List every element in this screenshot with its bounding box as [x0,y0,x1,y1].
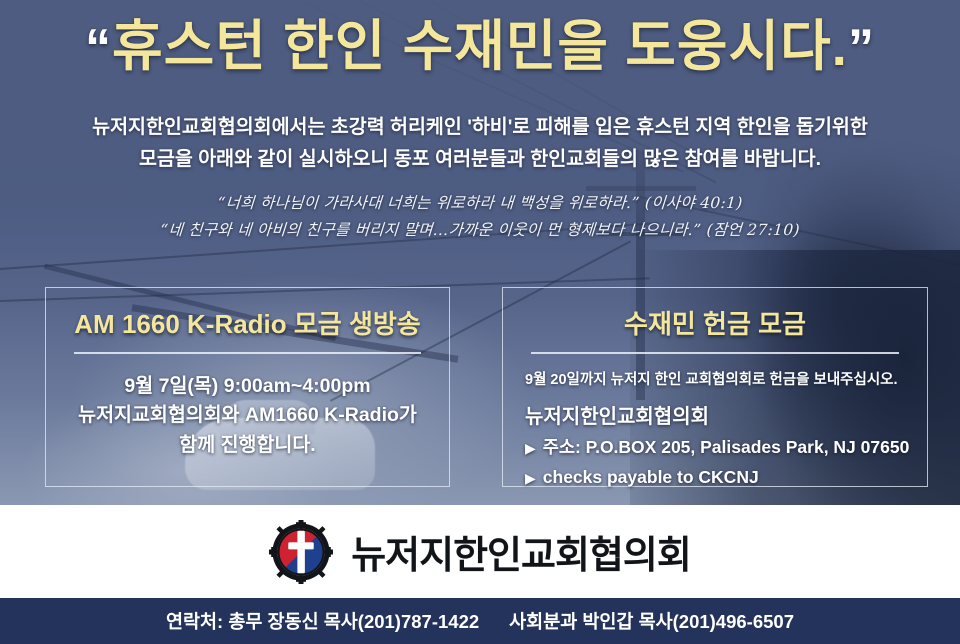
organization-name: 뉴저지한인교회협의회 [351,524,691,579]
donation-checks-row: ▶ checks payable to CKCNJ [525,466,927,490]
radio-broadcast-divider [74,352,421,354]
donation-checks-text: checks payable to CKCNJ [543,466,759,490]
donation-address-row: ▶ 주소: P.O.BOX 205, Palisades Park, NJ 07… [525,436,927,460]
donation-org-name: 뉴저지한인교회협의회 [525,404,927,430]
intro-line-1: 뉴저지한인교회협의회에서는 초강력 허리케인 '하비'로 피해를 입은 휴스턴 … [40,112,920,144]
intro-line-2: 모금을 아래와 같이 실시하오니 동포 여러분들과 한인교회들의 많은 참여를 … [40,144,920,176]
open-quote: “ [85,19,112,77]
ckcnj-logo-icon [269,520,333,584]
donation-title: 수재민 헌금 모금 [503,304,927,341]
donation-box: 수재민 헌금 모금 9월 20일까지 뉴저지 한인 교회협의회로 헌금을 보내주… [502,287,928,487]
donation-divider [531,352,899,354]
organization-logo-band: 뉴저지한인교회협의회 [0,505,960,598]
donation-deadline-note: 9월 20일까지 뉴저지 한인 교회협의회로 헌금을 보내주십시오. [525,370,927,390]
radio-broadcast-box: AM 1660 K-Radio 모금 생방송 9월 7일(목) 9:00am~4… [45,287,450,487]
footer-contact-1: 연락처: 총무 장동신 목사(201)787-1422 [166,608,479,634]
radio-broadcast-title: AM 1660 K-Radio 모금 생방송 [46,304,449,341]
page-title: “휴스턴 한인 수재민을 도웅시다.” [0,18,960,76]
triangle-bullet-icon: ▶ [525,441,536,455]
radio-line-1: 9월 7일(목) 9:00am~4:00pm [46,372,449,401]
close-quote: ” [848,19,875,77]
radio-broadcast-body: 9월 7일(목) 9:00am~4:00pm 뉴저지교회협의회와 AM1660 … [46,372,449,460]
footer-contact-bar: 연락처: 총무 장동신 목사(201)787-1422 사회분과 박인갑 목사(… [0,598,960,644]
footer-contact-2: 사회분과 박인갑 목사(201)496-6507 [509,608,794,634]
donation-address-text: 주소: P.O.BOX 205, Palisades Park, NJ 0765… [543,436,910,460]
poster-root: “휴스턴 한인 수재민을 도웅시다.” 뉴저지한인교회협의회에서는 초강력 허리… [0,0,960,644]
triangle-bullet-icon-2: ▶ [525,471,536,485]
scripture-verse-isaiah: “너희 하나님이 가라사대 너희는 위로하라 내 백성을 위로하라.” (이사야… [29,190,931,217]
page-title-text: 휴스턴 한인 수재민을 도웅시다. [112,15,848,77]
donation-body: 9월 20일까지 뉴저지 한인 교회협의회로 헌금을 보내주십시오. 뉴저지한인… [525,370,927,490]
radio-line-2: 뉴저지교회협의회와 AM1660 K-Radio가 [46,401,449,430]
intro-paragraph: 뉴저지한인교회협의회에서는 초강력 허리케인 '하비'로 피해를 입은 휴스턴 … [40,112,920,175]
scripture-block: “너희 하나님이 가라사대 너희는 위로하라 내 백성을 위로하라.” (이사야… [30,190,930,244]
scripture-verse-proverbs: “네 친구와 네 아비의 친구를 버리지 말며…가까운 이웃이 먼 형제보다 나… [29,217,931,244]
radio-line-3: 함께 진행합니다. [46,431,449,460]
